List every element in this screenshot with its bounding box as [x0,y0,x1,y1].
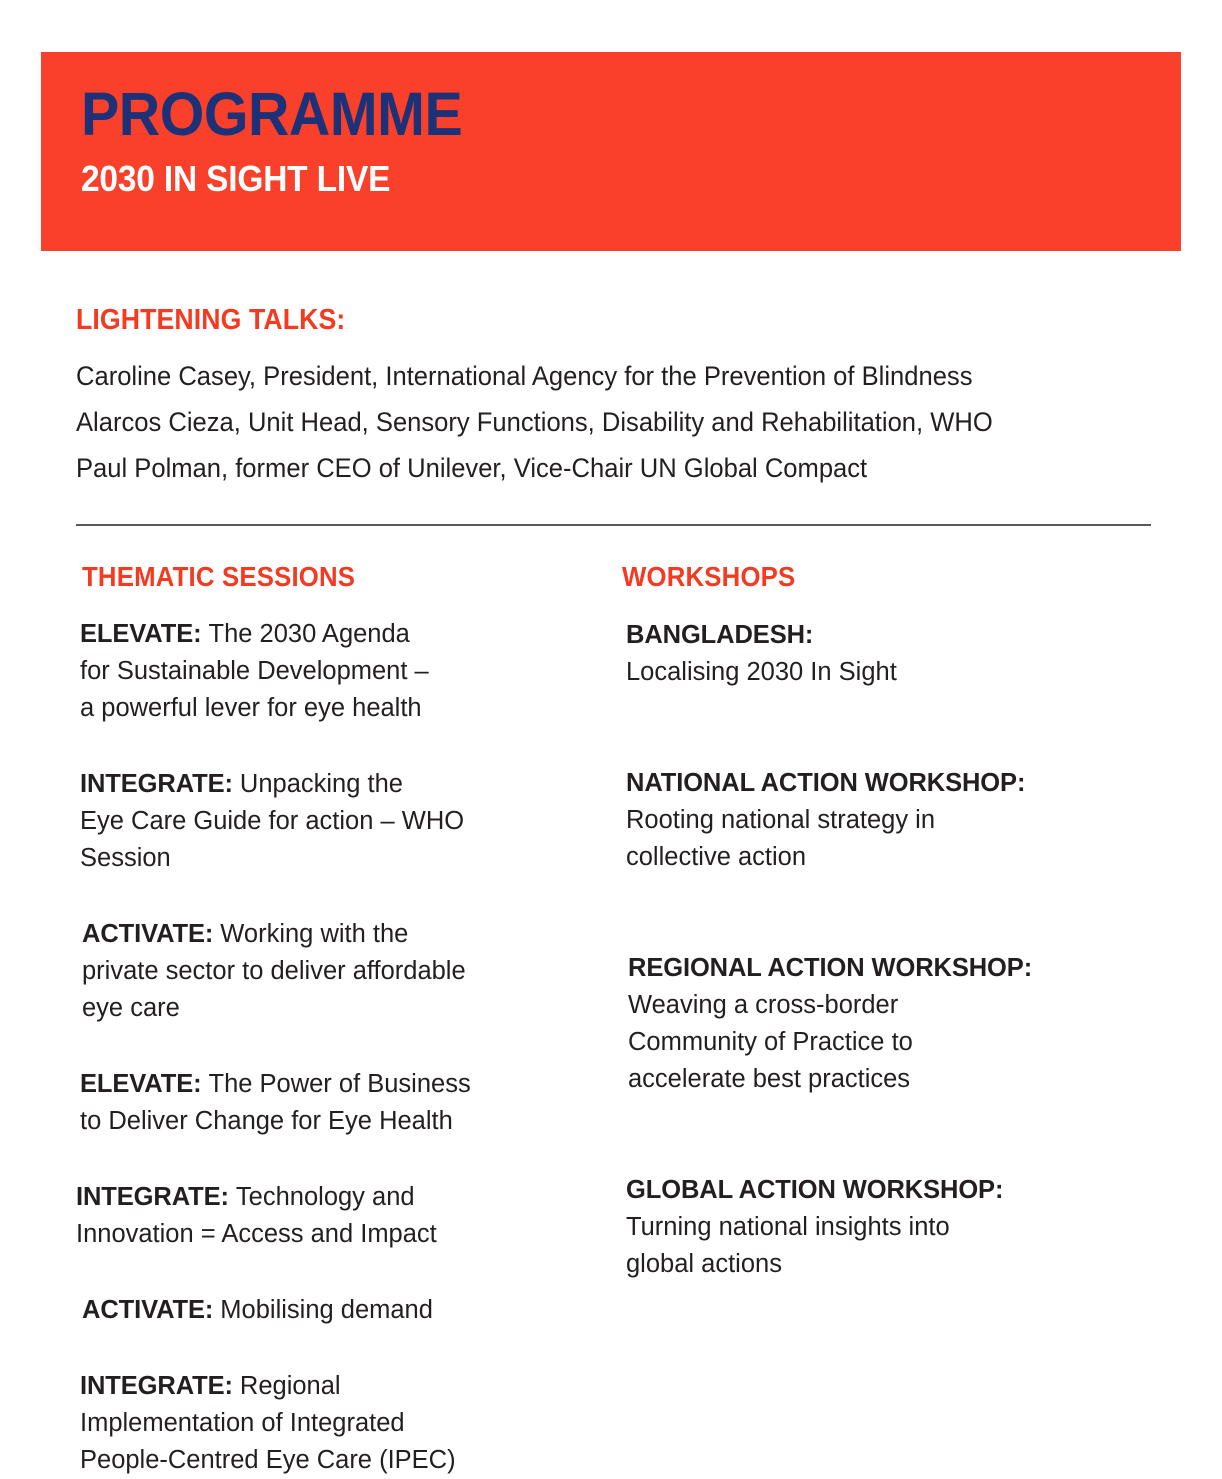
workshop-lead: NATIONAL ACTION WORKSHOP: [626,765,1142,802]
session-lead: INTEGRATE: [80,1372,240,1400]
session-text: for Sustainable Development – [80,653,576,690]
session-text: Mobilising demand [220,1296,433,1324]
session-text: The Power of Business [209,1070,471,1098]
session-text: People-Centred Eye Care (IPEC) [80,1442,576,1479]
workshop-lead: REGIONAL ACTION WORKSHOP: [628,950,1142,987]
session-lead: INTEGRATE: [80,770,240,798]
list-item: Caroline Casey, President, International… [76,353,1128,399]
session-lead: ELEVATE: [80,1070,209,1098]
list-item: INTEGRATE: Unpacking the Eye Care Guide … [80,766,576,877]
workshop-text: Localising 2030 In Sight [626,654,1142,691]
workshop-text: accelerate best practices [628,1061,1142,1098]
session-text: Implementation of Integrated [80,1405,576,1442]
lightning-talks-heading: LIGHTENING TALKS: [76,303,1079,337]
workshop-text: global actions [626,1246,1142,1283]
section-divider [76,524,1151,526]
lightning-talks-section: LIGHTENING TALKS: Caroline Casey, Presid… [76,303,1166,491]
workshop-text: Rooting national strategy in [626,802,1142,839]
session-text: Innovation = Access and Impact [76,1216,576,1253]
workshop-text: collective action [626,839,1142,876]
workshop-lead: BANGLADESH: [626,617,1142,654]
list-item: BANGLADESH: Localising 2030 In Sight [626,617,1142,691]
list-item: Paul Polman, former CEO of Unilever, Vic… [76,445,1128,491]
session-text: Session [80,840,576,877]
session-text: to Deliver Change for Eye Health [80,1103,576,1140]
list-item: GLOBAL ACTION WORKSHOP: Turning national… [626,1172,1142,1283]
list-item: ELEVATE: The 2030 Agenda for Sustainable… [80,616,576,727]
list-item: ACTIVATE: Working with the private secto… [82,916,576,1027]
workshop-text: Turning national insights into [626,1209,1142,1246]
list-item: ELEVATE: The Power of Business to Delive… [80,1066,576,1140]
session-text: Unpacking the [240,770,403,798]
workshops-heading: WORKSHOPS [622,560,1100,593]
thematic-sessions-column: THEMATIC SESSIONS ELEVATE: The 2030 Agen… [76,560,576,1479]
workshop-text: Community of Practice to [628,1024,1142,1061]
list-item: Alarcos Cieza, Unit Head, Sensory Functi… [76,399,1128,445]
session-text: private sector to deliver affordable [82,953,576,990]
session-lead: ELEVATE: [80,620,209,648]
workshop-lead: GLOBAL ACTION WORKSHOP: [626,1172,1142,1209]
list-item: NATIONAL ACTION WORKSHOP: Rooting nation… [626,765,1142,876]
session-text: eye care [82,990,576,1027]
session-lead: INTEGRATE: [76,1183,236,1211]
list-item: ACTIVATE: Mobilising demand [82,1292,576,1329]
workshops-column: WORKSHOPS BANGLADESH: Localising 2030 In… [622,560,1142,1283]
workshop-text: Weaving a cross-border [628,987,1142,1024]
session-lead: ACTIVATE: [82,920,220,948]
list-item: REGIONAL ACTION WORKSHOP: Weaving a cros… [628,950,1142,1098]
session-text: Technology and [236,1183,415,1211]
thematic-sessions-heading: THEMATIC SESSIONS [82,560,536,593]
list-item: INTEGRATE: Regional Implementation of In… [80,1368,576,1479]
session-lead: ACTIVATE: [82,1296,220,1324]
session-text: Eye Care Guide for action – WHO [80,803,576,840]
session-text: The 2030 Agenda [209,620,410,648]
session-text: Working with the [220,920,408,948]
session-text: Regional [240,1372,341,1400]
programme-header-band: PROGRAMME 2030 IN SIGHT LIVE [41,52,1181,251]
page-title: PROGRAMME [81,82,462,146]
session-text: a powerful lever for eye health [80,690,576,727]
page-subtitle: 2030 IN SIGHT LIVE [81,158,390,200]
list-item: INTEGRATE: Technology and Innovation = A… [76,1179,576,1253]
